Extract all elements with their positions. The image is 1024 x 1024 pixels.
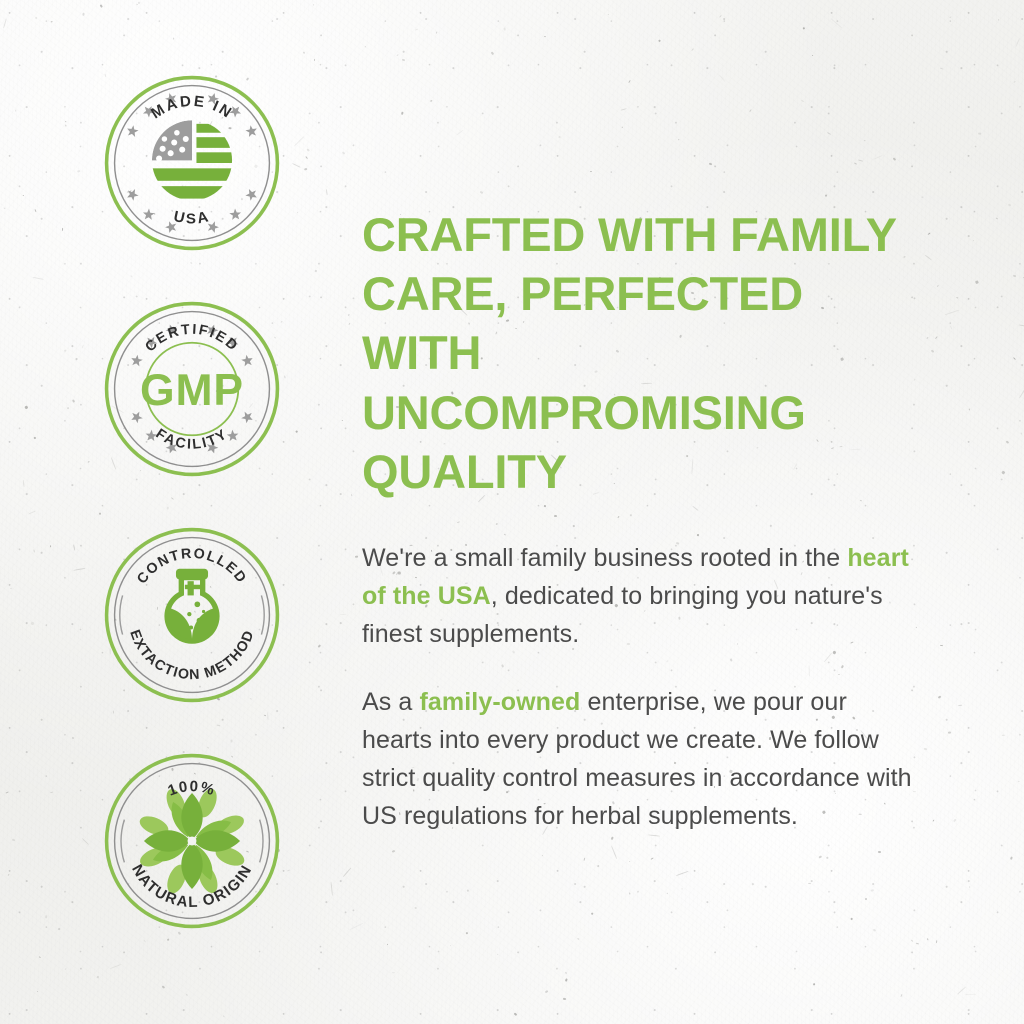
- paper-speck: [449, 945, 450, 946]
- paper-speck: [937, 285, 939, 287]
- paper-speck: [813, 983, 816, 986]
- paper-speck: [892, 158, 895, 161]
- paper-speck: [514, 1013, 517, 1016]
- paragraph-text: We're a small family business rooted in …: [362, 544, 847, 572]
- paper-speck: [11, 839, 14, 842]
- paper-fiber-mark: [414, 29, 417, 31]
- svg-text:EXTACTION METHOD: EXTACTION METHOD: [126, 628, 258, 684]
- certification-badge-column: MADE IN USA: [103, 74, 283, 930]
- paper-speck: [178, 932, 181, 935]
- highlight-text: family-owned: [419, 688, 580, 716]
- paper-speck: [284, 376, 286, 379]
- paper-fiber-mark: [945, 309, 959, 314]
- paper-fiber-mark: [611, 846, 617, 859]
- paper-speck: [854, 162, 857, 164]
- paper-speck: [544, 35, 546, 36]
- paper-speck: [629, 860, 631, 862]
- paper-speck: [850, 918, 852, 920]
- paper-speck: [998, 19, 999, 21]
- paper-speck: [818, 855, 821, 858]
- paper-speck: [590, 913, 593, 916]
- paper-fiber-mark: [73, 544, 75, 550]
- paper-speck: [491, 52, 494, 55]
- paper-speck: [25, 405, 29, 409]
- paper-fiber-mark: [958, 986, 967, 994]
- badge-top-label: MADE IN: [148, 93, 236, 123]
- paper-speck: [968, 409, 970, 412]
- paper-speck: [99, 512, 101, 515]
- paper-speck: [392, 972, 395, 973]
- paper-speck: [15, 110, 16, 112]
- paper-speck: [927, 938, 929, 941]
- paper-speck: [348, 323, 350, 325]
- paper-speck: [872, 929, 875, 932]
- paper-speck: [596, 865, 599, 868]
- paper-speck: [36, 991, 37, 993]
- paper-speck: [222, 1015, 224, 1018]
- svg-text:MADE IN: MADE IN: [148, 93, 236, 123]
- paper-fiber-mark: [676, 871, 688, 876]
- paper-speck: [82, 12, 84, 15]
- paper-speck: [59, 928, 61, 929]
- paper-speck: [6, 791, 9, 793]
- paper-speck: [296, 431, 298, 433]
- paper-speck: [924, 747, 927, 750]
- paper-fiber-mark: [81, 344, 83, 348]
- paper-speck: [948, 732, 951, 734]
- paper-speck: [629, 893, 630, 895]
- paper-speck: [541, 855, 542, 856]
- paper-fiber-mark: [343, 868, 351, 877]
- paper-fiber-mark: [340, 614, 346, 615]
- paper-speck: [957, 297, 959, 299]
- paper-fiber-mark: [457, 130, 464, 136]
- paper-speck: [1006, 440, 1009, 443]
- paper-speck: [565, 978, 568, 981]
- paper-fiber-mark: [3, 19, 7, 29]
- paper-speck: [565, 972, 567, 974]
- svg-text:CONTROLLED: CONTROLLED: [134, 546, 250, 587]
- paper-speck: [503, 28, 506, 32]
- paper-fiber-mark: [73, 568, 85, 571]
- badge-bottom-label: EXTACTION METHOD: [126, 628, 258, 684]
- paper-speck: [978, 133, 981, 135]
- paper-speck: [659, 39, 661, 41]
- paper-speck: [932, 820, 934, 823]
- paper-speck: [878, 851, 881, 853]
- flask-leaf-icon: [167, 569, 217, 641]
- paper-speck: [807, 883, 810, 884]
- paper-speck: [186, 994, 188, 996]
- paper-speck: [10, 588, 12, 590]
- paper-speck: [402, 59, 406, 62]
- paper-speck: [317, 644, 320, 647]
- paper-fiber-mark: [326, 190, 328, 196]
- paper-speck: [34, 16, 37, 19]
- paper-fiber-mark: [50, 791, 53, 793]
- gmp-center-text: GMP: [140, 366, 244, 415]
- paper-speck: [50, 545, 51, 547]
- paper-speck: [691, 48, 694, 51]
- paper-speck: [584, 858, 586, 861]
- paper-speck: [865, 898, 867, 900]
- paper-speck: [167, 938, 169, 940]
- paper-speck: [921, 196, 923, 197]
- paper-speck: [303, 52, 305, 54]
- paper-speck: [396, 54, 398, 56]
- paper-speck: [559, 136, 561, 138]
- paper-speck: [1010, 856, 1013, 859]
- paper-speck: [466, 932, 468, 934]
- paper-speck: [38, 956, 41, 958]
- paper-speck: [348, 313, 350, 315]
- paper-speck: [392, 849, 395, 852]
- promo-banner: MADE IN USA: [0, 0, 1024, 1024]
- paper-fiber-mark: [110, 963, 121, 968]
- paper-speck: [96, 975, 98, 977]
- badge-controlled-extraction: CONTROLLED EXTACTION METHOD: [103, 526, 281, 704]
- paper-speck: [306, 148, 310, 152]
- paper-speck: [562, 998, 565, 1000]
- paper-speck: [77, 170, 80, 172]
- paper-fiber-mark: [965, 994, 976, 995]
- paper-speck: [825, 195, 827, 197]
- paper-speck: [621, 127, 622, 128]
- paper-speck: [749, 109, 752, 112]
- paper-fiber-mark: [349, 922, 363, 929]
- paper-speck: [467, 890, 469, 892]
- paper-fiber-mark: [292, 163, 300, 168]
- svg-text:USA: USA: [172, 208, 212, 227]
- paper-speck: [719, 14, 722, 17]
- paper-speck: [973, 240, 974, 241]
- paper-speck: [62, 228, 63, 231]
- us-flag-icon: [145, 120, 241, 198]
- badge-made-in-usa: MADE IN USA: [103, 74, 281, 252]
- paper-fiber-mark: [23, 480, 25, 487]
- paper-speck: [33, 550, 34, 553]
- paper-speck: [161, 985, 164, 988]
- paper-speck: [71, 399, 74, 403]
- paper-speck: [436, 32, 437, 34]
- paper-speck: [34, 209, 36, 212]
- paper-speck: [351, 494, 353, 496]
- paper-speck: [172, 38, 173, 40]
- paper-speck: [1013, 357, 1016, 360]
- paper-fiber-mark: [858, 160, 863, 162]
- paper-speck: [578, 938, 580, 939]
- paper-speck: [802, 100, 805, 102]
- paper-speck: [681, 888, 683, 889]
- paper-speck: [342, 152, 346, 156]
- paper-speck: [497, 953, 499, 955]
- paper-speck: [287, 869, 290, 871]
- paper-speck: [64, 349, 67, 351]
- paper-speck: [996, 217, 998, 219]
- badge-top-label: CONTROLLED: [134, 546, 250, 587]
- svg-text:FACILITY: FACILITY: [153, 426, 232, 453]
- paper-speck: [1001, 471, 1005, 475]
- paper-fiber-mark: [827, 132, 831, 135]
- paper-speck: [1008, 204, 1012, 207]
- paper-speck: [88, 461, 90, 463]
- paper-fiber-mark: [950, 326, 953, 330]
- paper-fiber-mark: [958, 705, 962, 706]
- paper-speck: [401, 111, 404, 114]
- paper-speck: [355, 556, 358, 558]
- paper-speck: [709, 163, 713, 166]
- text-content-column: CRAFTED WITH FAMILY CARE, PERFECTED WITH…: [362, 205, 918, 835]
- paper-speck: [628, 80, 630, 83]
- paper-speck: [64, 121, 66, 122]
- paper-speck: [480, 191, 483, 194]
- paper-speck: [863, 140, 865, 141]
- badge-natural-origin: 100% NATURAL ORIGIN: [103, 752, 281, 930]
- paper-speck: [137, 1, 140, 4]
- paper-speck: [802, 27, 804, 30]
- paper-speck: [72, 737, 74, 739]
- paper-speck: [23, 195, 24, 196]
- paper-speck: [1012, 274, 1016, 277]
- paper-speck: [608, 14, 609, 15]
- paper-speck: [976, 280, 979, 283]
- paper-speck: [1022, 277, 1023, 278]
- paper-speck: [313, 4, 315, 5]
- paper-speck: [431, 101, 433, 102]
- paper-speck: [31, 622, 35, 625]
- badge-gmp-certified: GMP CERTIFIED FACILITY: [103, 300, 281, 478]
- paper-speck: [7, 873, 9, 876]
- paper-fiber-mark: [830, 18, 842, 29]
- paper-speck: [1018, 781, 1019, 782]
- paper-speck: [935, 337, 938, 340]
- paper-speck: [935, 940, 937, 943]
- paper-speck: [938, 696, 942, 699]
- paper-fiber-mark: [81, 838, 88, 845]
- paper-speck: [50, 21, 52, 23]
- paper-speck: [927, 337, 929, 339]
- paper-speck: [387, 944, 388, 945]
- paper-speck: [545, 990, 549, 993]
- paper-speck: [297, 212, 298, 213]
- paper-speck: [1013, 81, 1016, 83]
- badge-bottom-label: USA: [172, 208, 212, 227]
- paper-fiber-mark: [873, 155, 882, 160]
- paper-speck: [45, 915, 47, 918]
- paper-speck: [916, 942, 919, 944]
- paper-fiber-mark: [1016, 38, 1020, 47]
- paper-fiber-mark: [1018, 325, 1024, 327]
- paper-speck: [969, 886, 970, 888]
- paper-fiber-mark: [330, 882, 332, 896]
- paper-speck: [1020, 432, 1022, 435]
- paper-fiber-mark: [293, 136, 304, 147]
- paper-speck: [953, 818, 956, 821]
- badge-top-label: CERTIFIED: [142, 322, 241, 356]
- paper-speck: [901, 994, 903, 997]
- paper-speck: [949, 17, 951, 19]
- paper-fiber-mark: [33, 277, 44, 280]
- paper-speck: [3, 207, 5, 209]
- paper-speck: [64, 125, 66, 127]
- paper-fiber-mark: [719, 75, 725, 82]
- paper-speck: [314, 270, 317, 272]
- paper-speck: [870, 889, 873, 892]
- body-paragraph: As a family-owned enterprise, we pour ou…: [362, 683, 918, 835]
- paper-speck: [305, 156, 308, 159]
- paper-speck: [100, 4, 103, 7]
- page-title: CRAFTED WITH FAMILY CARE, PERFECTED WITH…: [362, 205, 918, 501]
- paper-speck: [911, 939, 913, 941]
- paper-fiber-mark: [621, 108, 627, 110]
- paper-speck: [677, 138, 679, 140]
- svg-text:CERTIFIED: CERTIFIED: [142, 322, 241, 356]
- paper-speck: [364, 46, 365, 47]
- paragraph-text: As a: [362, 688, 419, 716]
- paper-speck: [304, 168, 308, 171]
- paper-speck: [1002, 734, 1005, 735]
- paper-speck: [342, 420, 343, 421]
- paper-speck: [611, 836, 614, 839]
- paper-fiber-mark: [1019, 388, 1024, 398]
- paper-speck: [651, 858, 654, 860]
- paper-speck: [928, 232, 931, 234]
- paper-speck: [65, 967, 67, 969]
- paper-speck: [33, 437, 35, 440]
- paper-speck: [314, 59, 315, 61]
- paper-speck: [932, 350, 935, 353]
- paper-fiber-mark: [925, 255, 932, 261]
- paper-speck: [667, 892, 668, 893]
- paper-speck: [143, 940, 145, 943]
- paper-speck: [415, 907, 417, 909]
- paper-speck: [812, 55, 814, 57]
- paper-speck: [752, 883, 754, 885]
- paper-speck: [135, 4, 138, 6]
- paper-speck: [826, 857, 829, 859]
- paper-speck: [67, 407, 70, 410]
- paper-speck: [590, 171, 592, 172]
- paper-speck: [76, 358, 78, 360]
- paper-speck: [940, 645, 943, 646]
- body-copy: We're a small family business rooted in …: [362, 539, 918, 835]
- paper-fiber-mark: [28, 510, 36, 514]
- paper-speck: [939, 68, 942, 70]
- badge-bottom-label: FACILITY: [153, 426, 232, 453]
- body-paragraph: We're a small family business rooted in …: [362, 539, 918, 653]
